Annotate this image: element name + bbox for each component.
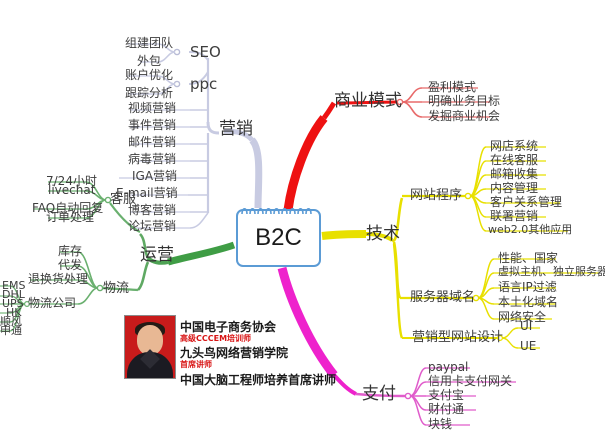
leaf-viral-marketing[interactable]: 病毒营销 [128,153,176,165]
leaf-email-marketing-cn[interactable]: 邮件营销 [128,136,176,148]
leaf-video-marketing[interactable]: 视频营销 [128,102,176,114]
branch-technology-lines [322,147,600,348]
instructor-portrait [124,315,176,379]
node-server-domain[interactable]: 服务器域名 [410,291,475,304]
leaf-localized-domain[interactable]: 本土化域名 [498,296,558,308]
leaf-performance-country[interactable]: 性能、国家 [498,252,558,264]
leaf-livechat[interactable]: livechat [48,184,95,196]
leaf-web20-other-apps[interactable]: web2.0其他应用 [488,224,572,235]
leaf-iga-marketing[interactable]: IGA营销 [132,170,177,182]
leaf-profit-model[interactable]: 盈利模式 [428,81,476,93]
node-ppc[interactable]: ppc [190,77,217,92]
branch-label-marketing[interactable]: 营销 [219,121,253,138]
node-website-program[interactable]: 网站程序 [410,189,462,202]
leaf-event-marketing[interactable]: 事件营销 [128,119,176,131]
leaf-outsourcing[interactable]: 外包 [137,55,161,67]
leaf-build-team[interactable]: 组建团队 [125,37,173,49]
leaf-email-collection[interactable]: 邮箱收集 [490,168,538,180]
leaf-tracking-analysis[interactable]: 跟踪分析 [125,87,173,99]
caption-line-5: 中国大脑工程师培养首席讲师 [180,371,336,388]
leaf-crm[interactable]: 客户关系管理 [490,196,562,208]
node-marketing-website-design[interactable]: 营销型网站设计 [412,331,503,344]
leaf-ui[interactable]: UI [520,320,532,332]
leaf-paypal[interactable]: paypal [428,361,468,373]
leaf-account-optimization[interactable]: 账户优化 [125,69,173,81]
central-node[interactable]: B2C [236,209,321,267]
leaf-returns-processing[interactable]: 退换货处理 [28,273,88,285]
leaf-language-ip-filter[interactable]: 语言IP过滤 [498,281,557,293]
notepad-spiral-icon [238,205,318,215]
leaf-online-shop-system[interactable]: 网店系统 [490,140,538,152]
node-logistics-companies[interactable]: 物流公司 [28,297,76,309]
branch-label-operations[interactable]: 运营 [140,247,174,264]
node-logistics[interactable]: 物流 [103,282,129,295]
leaf-credit-card-gateway[interactable]: 信用卡支付网关 [428,375,512,387]
leaf-ue[interactable]: UE [520,340,536,352]
node-customer-service[interactable]: 客服 [110,193,136,206]
leaf-order-processing[interactable]: 订单处理 [46,211,94,223]
leaf-shentong[interactable]: 申通 [0,325,22,336]
branch-label-payment[interactable]: 支付 [362,386,396,403]
leaf-online-customer-service[interactable]: 在线客服 [490,154,538,166]
branch-label-technology[interactable]: 技术 [366,226,400,243]
leaf-clear-business-goals[interactable]: 明确业务目标 [428,95,500,107]
leaf-tenpay[interactable]: 财付通 [428,403,464,415]
leaf-content-management[interactable]: 内容管理 [490,182,538,194]
leaf-dropshipping[interactable]: 代发 [58,259,82,271]
caption-line-2: 高级CCCEM培训师 [180,333,251,344]
leaf-vps-dedicated-server[interactable]: 虚拟主机、独立服务器 [498,266,605,277]
leaf-discover-opportunities[interactable]: 发掘商业机会 [428,110,500,122]
caption-line-4: 首席讲师 [180,359,212,370]
leaf-inventory[interactable]: 库存 [58,245,82,257]
branch-label-business-model[interactable]: 商业模式 [334,93,402,110]
leaf-kuaiqian[interactable]: 块钱 [428,418,452,430]
leaf-forum-marketing[interactable]: 论坛营销 [128,220,176,232]
leaf-alipay[interactable]: 支付宝 [428,389,464,401]
node-seo[interactable]: SEO [190,45,221,60]
leaf-affiliate-marketing[interactable]: 联署营销 [490,210,538,222]
